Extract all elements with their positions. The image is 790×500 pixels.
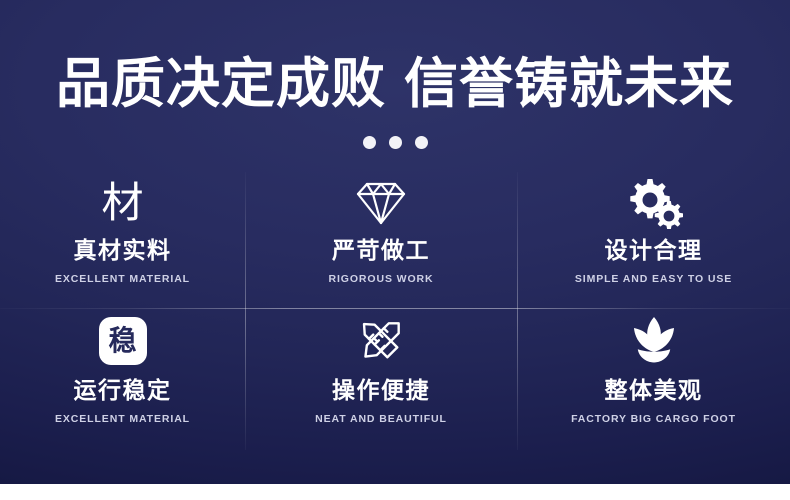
feature-item: 整体美观 FACTORY BIG CARGO FOOT [517,308,790,457]
dot-divider [0,136,790,149]
character-cai-icon: 材 [101,172,143,234]
character-cai-glyph: 材 [101,182,143,224]
feature-item: 操作便捷 NEAT AND BEAUTIFUL [245,308,517,457]
divider-dot [389,136,402,149]
feature-title-cn: 整体美观 [605,380,703,403]
feature-title-cn: 操作便捷 [332,380,430,403]
divider-dot [363,136,376,149]
feature-title-en: SIMPLE AND EASY TO USE [575,273,732,285]
character-wen-badge-icon: 稳 [99,308,147,374]
feature-title-cn: 真材实料 [74,240,172,263]
divider-dot [415,136,428,149]
feature-title-en: NEAT AND BEAUTIFUL [315,413,447,425]
feature-title-en: FACTORY BIG CARGO FOOT [571,413,736,425]
feature-item: 设计合理 SIMPLE AND EASY TO USE [517,172,790,308]
pencil-ruler-icon [352,308,410,374]
feature-title-cn: 设计合理 [605,240,703,263]
feature-title-en: EXCELLENT MATERIAL [55,273,190,285]
lotus-leaf-icon [623,308,685,374]
page-title: 品质决定成败信誉铸就未来 [0,56,790,113]
feature-title-cn: 运行稳定 [74,380,172,403]
feature-item: 严苛做工 RIGOROUS WORK [245,172,517,308]
badge-shape: 稳 [99,317,147,365]
feature-item: 材 真材实料 EXCELLENT MATERIAL [0,172,245,308]
character-wen-glyph: 稳 [108,327,136,355]
diamond-icon [353,172,409,234]
feature-title-en: EXCELLENT MATERIAL [55,413,190,425]
feature-title-en: RIGOROUS WORK [328,273,433,285]
promo-banner: 品质决定成败信誉铸就未来 材 真材实料 EXCELLENT MATERIAL [0,0,790,484]
headline-right: 信誉铸就未来 [404,52,734,115]
headline-left: 品质决定成败 [56,52,386,115]
feature-title-cn: 严苛做工 [332,240,430,263]
gears-icon [625,172,683,234]
feature-item: 稳 运行稳定 EXCELLENT MATERIAL [0,308,245,457]
feature-grid: 材 真材实料 EXCELLENT MATERIAL 严苛做工 RIGOROUS … [0,172,790,457]
